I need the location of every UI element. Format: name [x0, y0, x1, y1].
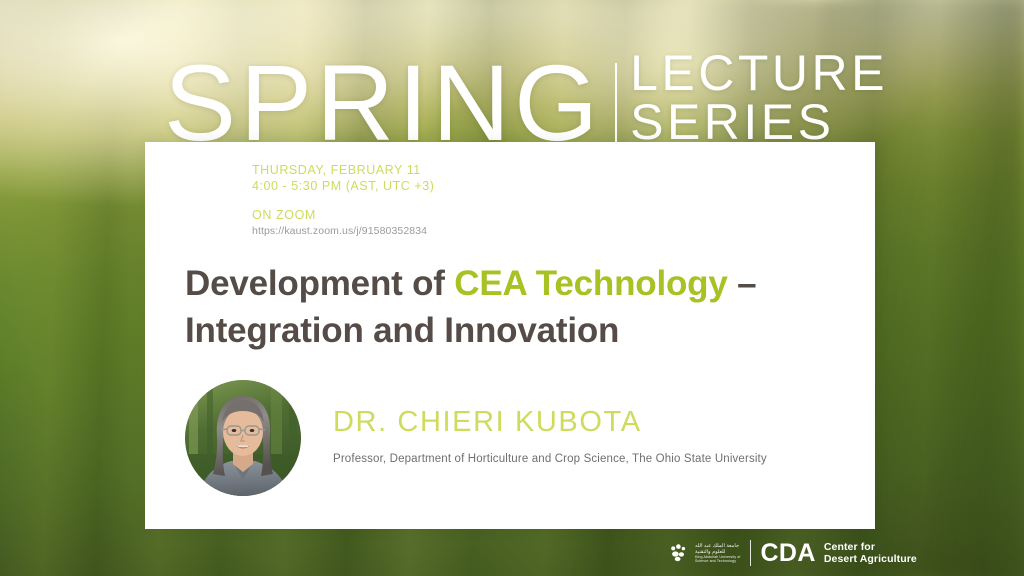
lecture-poster: SPRING LECTURE SERIES THURSDAY, FEBRUARY…: [0, 0, 1024, 576]
zoom-link[interactable]: https://kaust.zoom.us/j/91580352834: [252, 224, 434, 238]
speaker-name: DR. CHIERI KUBOTA: [333, 405, 767, 439]
speaker-portrait-illustration: [185, 380, 301, 496]
kaust-english-line-2: Science and Technology: [695, 559, 740, 563]
kaust-wordmark: جامعة الملك عبد الله للعلوم والتقنية Kin…: [695, 543, 740, 564]
kaust-logo: جامعة الملك عبد الله للعلوم والتقنية Kin…: [668, 542, 740, 564]
talk-title: Development of CEA Technology – Integrat…: [185, 260, 865, 354]
cda-full-name: Center for Desert Agriculture: [824, 541, 917, 566]
content-card: THURSDAY, FEBRUARY 11 4:00 - 5:30 PM (AS…: [145, 142, 875, 529]
cda-full-line-1: Center for: [824, 541, 917, 554]
avatar: [185, 380, 301, 496]
talk-title-part-1: Development of: [185, 264, 454, 303]
cda-full-line-2: Desert Agriculture: [824, 553, 917, 566]
event-date: THURSDAY, FEBRUARY 11: [252, 162, 434, 178]
talk-title-highlight: CEA Technology: [454, 264, 727, 303]
logo-divider: [750, 540, 751, 566]
speaker-text-block: DR. CHIERI KUBOTA Professor, Department …: [333, 405, 767, 471]
footer-logo-lockup: جامعة الملك عبد الله للعلوم والتقنية Kin…: [668, 538, 917, 568]
speaker-affiliation: Professor, Department of Horticulture an…: [333, 452, 767, 467]
cda-abbreviation: CDA: [760, 540, 815, 566]
kaust-emblem-icon: [668, 542, 690, 564]
event-meta-block: THURSDAY, FEBRUARY 11 4:00 - 5:30 PM (AS…: [252, 162, 434, 238]
event-venue-label: ON ZOOM: [252, 207, 434, 223]
speaker-row: DR. CHIERI KUBOTA Professor, Department …: [185, 380, 767, 496]
event-time: 4:00 - 5:30 PM (AST, UTC +3): [252, 178, 434, 194]
